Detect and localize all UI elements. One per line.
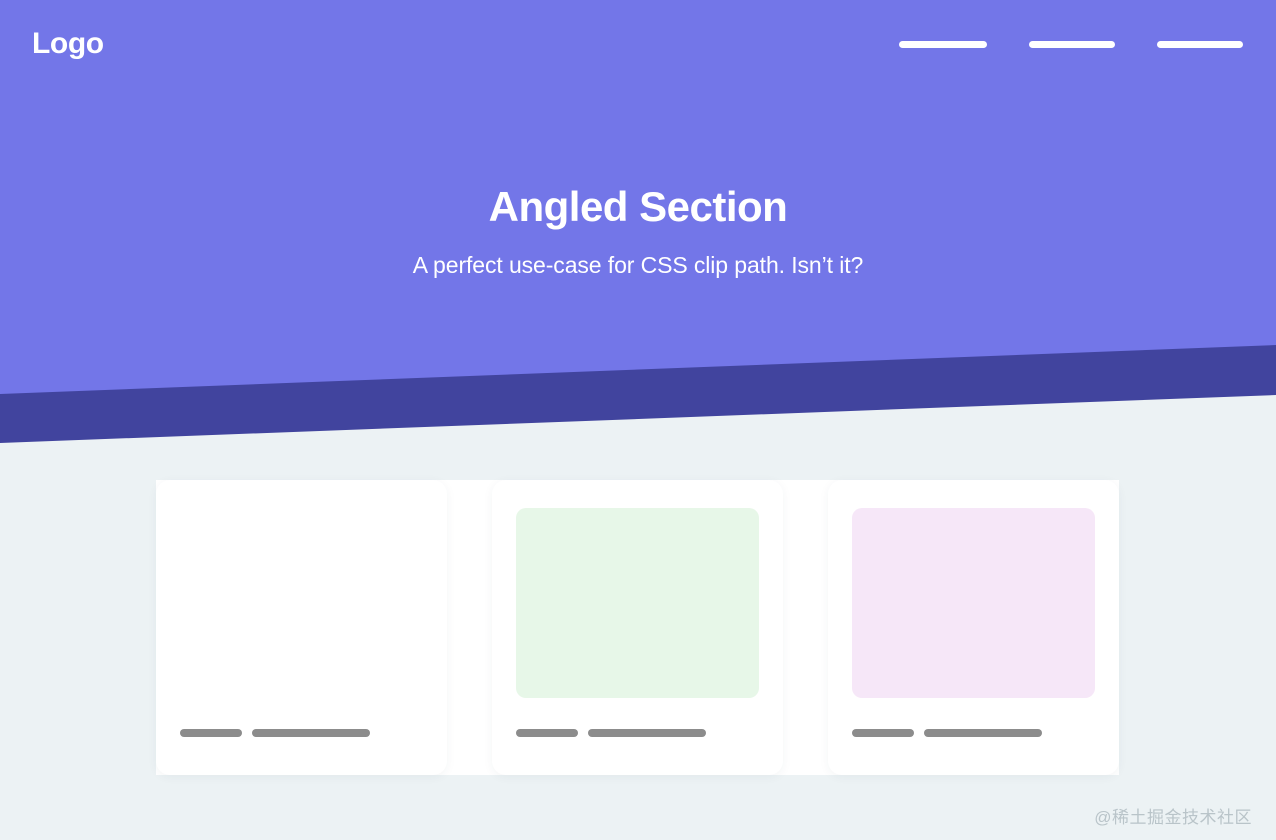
nav-placeholder-1[interactable] <box>899 41 987 48</box>
card-image-placeholder <box>180 508 423 698</box>
card-grid <box>156 480 1119 775</box>
card-3[interactable] <box>828 480 1119 775</box>
nav-placeholder-3[interactable] <box>1157 41 1243 48</box>
card-text-placeholder <box>180 729 423 737</box>
card-text-placeholder <box>516 729 759 737</box>
card-text-placeholder <box>852 729 1095 737</box>
watermark: @稀土掘金技术社区 <box>1094 803 1252 828</box>
card-image-placeholder <box>852 508 1095 698</box>
text-line-short <box>180 729 242 737</box>
nav-placeholder-2[interactable] <box>1029 41 1115 48</box>
logo[interactable]: Logo <box>32 29 104 59</box>
text-line-short <box>516 729 578 737</box>
page-title: Angled Section <box>0 182 1276 232</box>
top-navigation-bar: Logo <box>0 0 1276 88</box>
text-line-long <box>252 729 370 737</box>
page-subtitle: A perfect use-case for CSS clip path. Is… <box>0 251 1276 281</box>
text-line-long <box>588 729 706 737</box>
nav-links <box>899 41 1243 48</box>
text-line-short <box>852 729 914 737</box>
card-image-placeholder <box>516 508 759 698</box>
card-2[interactable] <box>492 480 783 775</box>
text-line-long <box>924 729 1042 737</box>
card-1[interactable] <box>156 480 447 775</box>
